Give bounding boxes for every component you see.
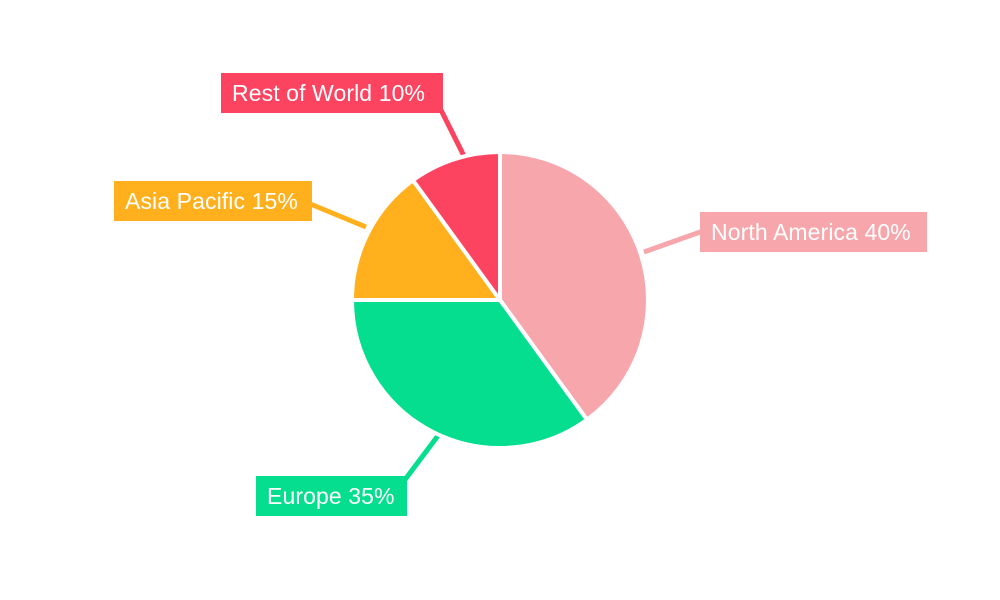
- leader-line-asia-pacific: [308, 203, 366, 227]
- pie-label-north-america: North America 40%: [700, 212, 927, 252]
- leader-line-rest-of-world: [441, 110, 466, 160]
- pie-label-europe: Europe 35%: [256, 476, 407, 516]
- pie-label-rest-of-world: Rest of World 10%: [221, 73, 443, 113]
- leader-line-europe: [404, 433, 440, 481]
- pie-label-rest-of-world-text: Rest of World 10%: [232, 82, 425, 105]
- pie-slices: [352, 152, 648, 448]
- pie-chart-figure: North America 40% Europe 35% Asia Pacifi…: [0, 0, 1000, 600]
- pie-label-north-america-text: North America 40%: [711, 221, 911, 244]
- pie-label-europe-text: Europe 35%: [267, 485, 395, 508]
- pie-label-asia-pacific: Asia Pacific 15%: [114, 181, 312, 221]
- leader-line-north-america: [644, 231, 703, 252]
- pie-chart-canvas: [0, 0, 1000, 600]
- pie-label-asia-pacific-text: Asia Pacific 15%: [125, 190, 298, 213]
